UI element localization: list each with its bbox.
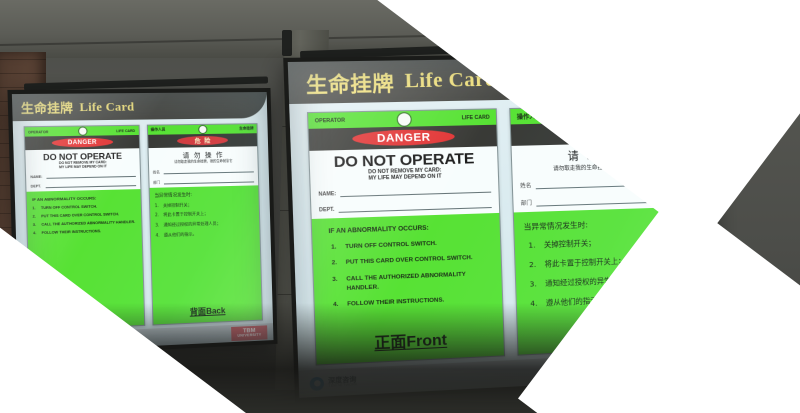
steps-list-cn: 1.关掉控制开关； 2.将此卡置于控制开关上； 3.通知经过授权的异常处理人员；… bbox=[155, 200, 255, 238]
field-name-front: NAME: bbox=[30, 172, 135, 178]
list-item: 1.TURN OFF CONTROL SWITCH. bbox=[331, 237, 491, 252]
abnormality-heading-cn: 当异常情况发生时: bbox=[154, 190, 253, 198]
mount-bracket bbox=[282, 30, 292, 56]
field-name-back: 姓名 bbox=[153, 167, 254, 174]
field-name-label-front: NAME: bbox=[30, 174, 42, 178]
abnormality-heading-en: IF AN ABNORMALITY OCCURS: bbox=[32, 194, 135, 202]
card-front-sub2: MY LIFE MAY DEPEND ON IT bbox=[30, 164, 135, 170]
list-item: 2.将此卡置于控制开关上； bbox=[155, 210, 254, 219]
field-dept-line-back bbox=[164, 181, 254, 184]
card-front-tag-right: LIFE CARD bbox=[116, 128, 135, 132]
card-punch-hole bbox=[78, 126, 88, 135]
field-dept-front: DEPT. bbox=[31, 182, 136, 188]
card-punch-hole bbox=[396, 112, 411, 127]
field-name-label-back: 姓名 bbox=[153, 169, 160, 174]
abnormality-heading-en: IF AN ABNORMALITY OCCURS: bbox=[322, 222, 491, 235]
slide-title-en: Life Card bbox=[79, 99, 134, 115]
card-back-sub1: 请勿取走我的生命挂牌，我的生命就靠它 bbox=[153, 159, 254, 165]
field-dept-label-back: 部门 bbox=[521, 199, 532, 208]
danger-pill-en: DANGER bbox=[352, 129, 455, 147]
field-dept-label-front: DEPT. bbox=[31, 184, 41, 188]
field-name-label-front: NAME: bbox=[318, 190, 336, 197]
danger-pill-cn: 危 险 bbox=[177, 136, 228, 146]
card-front-tag-left: OPERATOR bbox=[315, 117, 345, 124]
slide-title-bar-left: 生命挂牌 Life Card bbox=[12, 92, 267, 121]
danger-pill-en: DANGER bbox=[51, 137, 112, 147]
card-punch-hole bbox=[198, 125, 207, 134]
steps-list-en: 1.TURN OFF CONTROL SWITCH. 2.PUT THIS CA… bbox=[322, 237, 493, 310]
field-name-line-back bbox=[164, 171, 254, 174]
list-item: 3.CALL THE AUTHORIZED ABNORMALITY HANDLE… bbox=[332, 270, 492, 294]
life-card-back: 操作人员 生命挂牌 危 险 请 勿 操 作 请勿取走我的生命挂牌，我的生命就靠它… bbox=[146, 123, 263, 325]
field-dept-back: 部门 bbox=[153, 177, 254, 184]
list-item: 3.通知经过授权的异常处理人员； bbox=[155, 220, 254, 229]
slide-title-cn: 生命挂牌 bbox=[21, 98, 74, 116]
card-back-tag-right: 生命挂牌 bbox=[239, 126, 254, 131]
field-name-label-back: 姓名 bbox=[520, 181, 531, 190]
slide-title-cn: 生命挂牌 bbox=[305, 66, 394, 98]
field-name-line-front bbox=[47, 175, 136, 178]
list-item: 1.TURN OFF CONTROL SWITCH. bbox=[32, 203, 135, 211]
field-dept-front: DEPT. bbox=[319, 201, 492, 213]
list-item: 2.PUT THIS CARD OVER CONTROL SWITCH. bbox=[33, 211, 136, 219]
photo-scene: 生命挂牌 Life Card OPERATOR LIFE CARD DANGER bbox=[0, 0, 800, 413]
field-dept-label-back: 部门 bbox=[153, 179, 160, 184]
list-item: 4.FOLLOW THEIR INSTRUCTIONS. bbox=[33, 228, 136, 236]
card-front-info: DO NOT OPERATE DO NOT REMOVE MY CARD: MY… bbox=[25, 148, 140, 191]
card-front-info: DO NOT OPERATE DO NOT REMOVE MY CARD: MY… bbox=[309, 146, 499, 218]
field-dept-label-front: DEPT. bbox=[319, 206, 335, 213]
field-name-line-front bbox=[341, 191, 492, 197]
list-item: 2.PUT THIS CARD OVER CONTROL SWITCH. bbox=[332, 253, 492, 268]
list-item: 1.关掉控制开关； bbox=[155, 200, 254, 208]
card-front-tag-left: OPERATOR bbox=[28, 130, 48, 134]
list-item: 3.CALL THE AUTHORIZED ABNORMALITY HANDLE… bbox=[33, 220, 136, 228]
field-dept-line-front bbox=[339, 206, 492, 212]
steps-list-en: 1.TURN OFF CONTROL SWITCH. 2.PUT THIS CA… bbox=[32, 203, 136, 237]
card-back-info: 请 勿 操 作 请勿取走我的生命挂牌，我的生命就靠它 姓名 部门 bbox=[148, 146, 258, 187]
card-front-tagstrip: OPERATOR LIFE CARD bbox=[25, 126, 139, 137]
list-item: 4.遵从他们的指示。 bbox=[156, 230, 255, 239]
card-back-tagstrip: 操作人员 生命挂牌 bbox=[147, 124, 256, 135]
field-dept-line-front bbox=[45, 185, 135, 188]
field-name-front: NAME: bbox=[318, 186, 491, 197]
card-front-tag-right: LIFE CARD bbox=[462, 114, 490, 121]
card-back-tag-left: 操作人员 bbox=[151, 127, 166, 132]
